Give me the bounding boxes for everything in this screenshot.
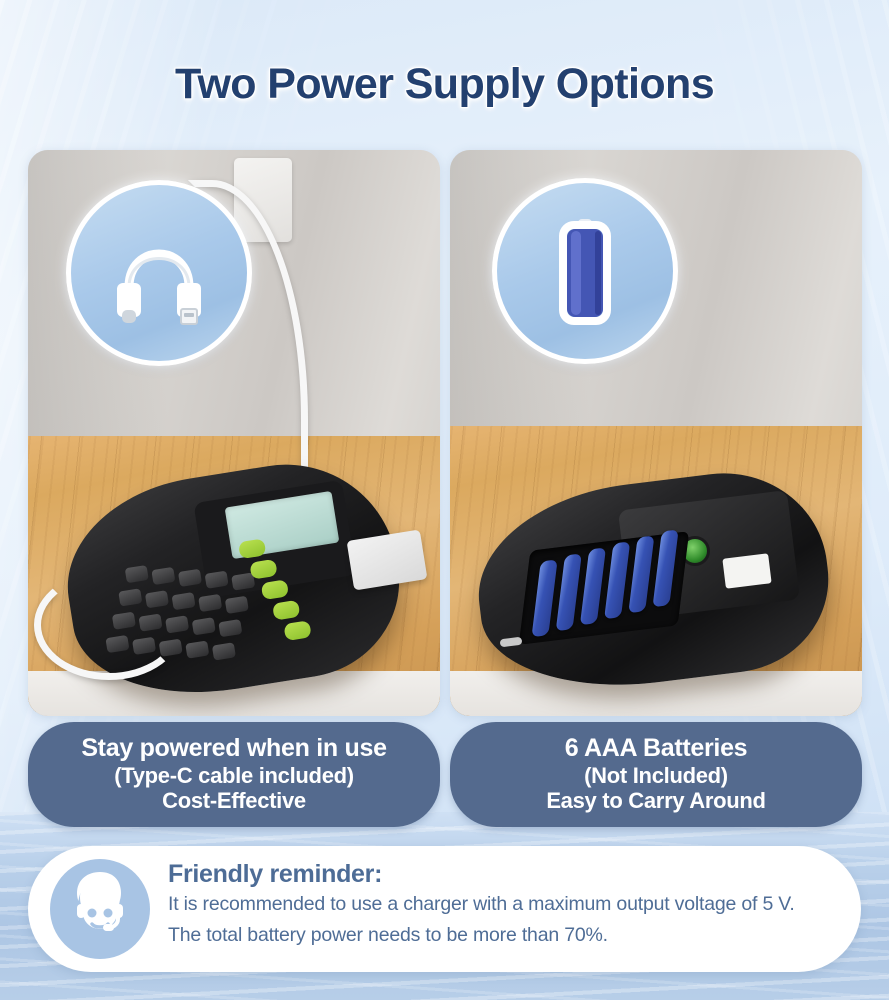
friendly-reminder-card: Friendly reminder: It is recommended to … <box>28 846 861 972</box>
aaa-battery-icon <box>521 207 649 335</box>
support-agent-headset-icon <box>59 866 141 953</box>
panel-battery-power[interactable] <box>450 150 862 716</box>
aaa-battery <box>604 541 630 619</box>
caption-usb-power: Stay powered when in use (Type-C cable i… <box>28 722 440 827</box>
caption-line-3: Cost-Effective <box>50 788 418 813</box>
caption-line-2: (Type-C cable included) <box>50 763 418 788</box>
aaa-battery <box>628 535 654 613</box>
caption-line-3: Easy to Carry Around <box>472 788 840 813</box>
avatar <box>50 859 150 959</box>
power-cable-lower <box>34 570 184 680</box>
caption-line-2: (Not Included) <box>472 763 840 788</box>
panel-usb-power[interactable] <box>28 150 440 716</box>
aaa-battery <box>580 547 606 625</box>
reminder-line-1: It is recommended to use a charger with … <box>168 893 831 917</box>
reminder-text-block: Friendly reminder: It is recommended to … <box>168 860 831 948</box>
caption-battery-power: 6 AAA Batteries (Not Included) Easy to C… <box>450 722 862 827</box>
badge-usb-cable <box>66 180 252 366</box>
aaa-battery <box>531 559 557 637</box>
aaa-battery <box>556 553 582 631</box>
label-maker-device-open <box>478 482 828 682</box>
aaa-battery <box>652 529 678 607</box>
usb-cable-icon <box>95 209 223 337</box>
badge-aaa-battery <box>492 178 678 364</box>
reminder-title: Friendly reminder: <box>168 860 831 889</box>
reminder-line-2: The total battery power needs to be more… <box>168 924 831 948</box>
white-label-chip <box>722 553 771 588</box>
label-maker-device <box>68 473 398 688</box>
panels-container <box>0 0 889 830</box>
caption-line-1: 6 AAA Batteries <box>472 734 840 763</box>
caption-line-1: Stay powered when in use <box>50 734 418 763</box>
